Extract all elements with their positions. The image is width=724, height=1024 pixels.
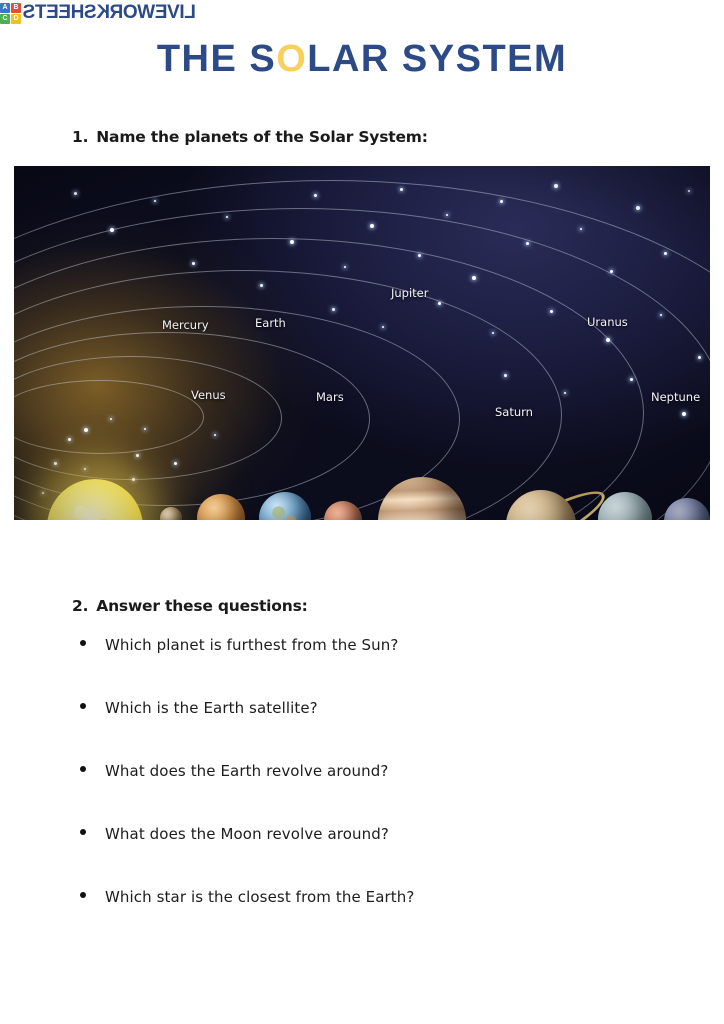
star	[664, 252, 667, 255]
star	[610, 270, 613, 273]
star	[68, 438, 71, 441]
bullet-icon	[80, 640, 86, 646]
title-part-before: THE S	[157, 38, 276, 80]
star	[192, 262, 195, 265]
star	[84, 428, 88, 432]
star	[260, 284, 263, 287]
sun-surface-detail	[59, 491, 132, 520]
planet-label-neptune: Neptune	[651, 390, 700, 404]
question-text: Which planet is furthest from the Sun?	[105, 636, 398, 654]
list-item: What does the Earth revolve around?	[80, 762, 680, 825]
star	[174, 462, 177, 465]
planet-label-mars: Mars	[316, 390, 344, 404]
site-logo[interactable]: A B C D LIVEWORKSHEETS	[0, 0, 196, 26]
logo-cell-d: D	[11, 14, 21, 24]
star	[370, 224, 374, 228]
star	[314, 194, 317, 197]
star	[144, 428, 146, 430]
planet-label-uranus: Uranus	[587, 315, 628, 329]
section-1-number: 1.	[72, 128, 88, 146]
star	[500, 200, 503, 203]
section-2-heading: 2.Answer these questions:	[72, 597, 308, 615]
solar-system-illustration: Mercury Venus Earth Mars Jupiter Saturn …	[14, 166, 710, 520]
list-item: Which star is the closest from the Earth…	[80, 888, 680, 951]
star	[154, 200, 156, 202]
planet-saturn-group	[484, 466, 600, 520]
star	[42, 492, 44, 494]
star	[492, 332, 494, 334]
star	[438, 302, 441, 305]
logo-cell-b: B	[11, 3, 21, 13]
logo-wordmark: LIVEWORKSHEETS	[23, 2, 196, 24]
liveworksheets-logo-icon: A B C D	[0, 3, 21, 24]
planet-label-mercury: Mercury	[162, 318, 209, 332]
question-text: What does the Earth revolve around?	[105, 762, 388, 780]
star	[636, 206, 640, 210]
star	[630, 378, 633, 381]
star	[132, 478, 135, 481]
title-sun-letter: O	[276, 38, 307, 80]
star	[526, 242, 529, 245]
star	[698, 356, 701, 359]
star	[84, 468, 86, 470]
star	[550, 310, 553, 313]
bullet-icon	[80, 766, 86, 772]
logo-cell-a: A	[0, 3, 10, 13]
section-1-heading: 1.Name the planets of the Solar System:	[72, 128, 428, 146]
star	[136, 454, 139, 457]
planet-label-venus: Venus	[191, 388, 226, 402]
bullet-icon	[80, 703, 86, 709]
star	[660, 314, 662, 316]
section-1-text: Name the planets of the Solar System:	[96, 128, 427, 146]
star	[606, 338, 610, 342]
star	[54, 462, 57, 465]
planet-label-earth: Earth	[255, 316, 286, 330]
questions-list: Which planet is furthest from the Sun? W…	[80, 636, 680, 951]
question-text: Which is the Earth satellite?	[105, 699, 318, 717]
page-title: THE SOLAR SYSTEM	[0, 38, 724, 81]
star	[446, 214, 448, 216]
star	[344, 266, 346, 268]
question-text: What does the Moon revolve around?	[105, 825, 389, 843]
star	[564, 392, 566, 394]
star	[226, 216, 228, 218]
star	[580, 228, 582, 230]
star	[214, 434, 216, 436]
star	[110, 418, 112, 420]
bullet-icon	[80, 829, 86, 835]
star	[554, 184, 558, 188]
planet-label-saturn: Saturn	[495, 405, 533, 419]
star	[110, 228, 114, 232]
star	[504, 374, 507, 377]
star	[290, 240, 294, 244]
list-item: Which is the Earth satellite?	[80, 699, 680, 762]
orbit-line	[14, 180, 710, 520]
section-2-number: 2.	[72, 597, 88, 615]
planet-label-jupiter: Jupiter	[391, 286, 429, 300]
star	[382, 326, 384, 328]
list-item: Which planet is furthest from the Sun?	[80, 636, 680, 699]
star	[418, 254, 421, 257]
list-item: What does the Moon revolve around?	[80, 825, 680, 888]
logo-cell-c: C	[0, 14, 10, 24]
section-2-text: Answer these questions:	[96, 597, 307, 615]
star	[472, 276, 476, 280]
bullet-icon	[80, 892, 86, 898]
star	[400, 188, 403, 191]
star	[688, 190, 690, 192]
title-part-after: LAR SYSTEM	[307, 38, 567, 80]
star	[332, 308, 335, 311]
star	[682, 412, 686, 416]
star	[74, 192, 77, 195]
question-text: Which star is the closest from the Earth…	[105, 888, 414, 906]
